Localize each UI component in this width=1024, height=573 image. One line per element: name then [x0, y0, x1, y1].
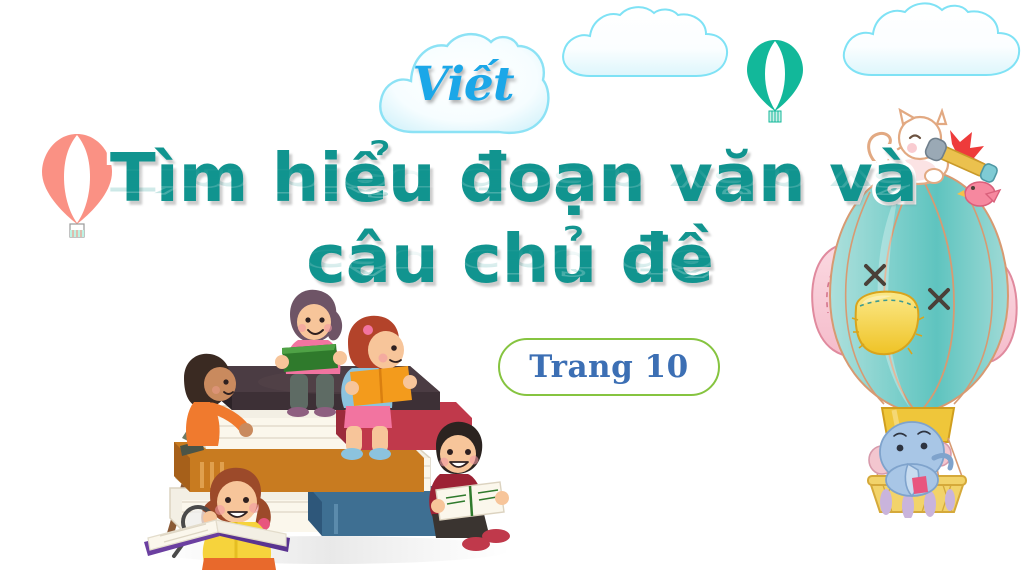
balloon-small-pink-icon [38, 132, 116, 247]
page-number-badge[interactable]: Trang 10 [498, 338, 720, 396]
balloon-small-teal-icon [744, 38, 806, 131]
title-line-1-text: Tìm hiểu đoạn văn và [110, 136, 918, 220]
title-line-1: Tìm hiểu đoạn văn và Tìm hiểu đoạn văn v… [110, 136, 910, 221]
cloud-top-right-icon [836, 2, 1022, 82]
title-line-2: câu chủ đề câu chủ đề [110, 217, 910, 302]
viet-badge: Viết [371, 28, 551, 140]
page-title: Tìm hiểu đoạn văn và Tìm hiểu đoạn văn v… [110, 136, 910, 302]
slide-canvas: Viết Tìm hiểu đoạn văn và Tìm hiểu đoạn … [0, 0, 1024, 573]
cloud-top-center-icon [556, 6, 734, 82]
title-line-2-text: câu chủ đề [306, 217, 714, 301]
viet-label: Viết [371, 28, 551, 140]
page-number-label: Trang 10 [529, 349, 688, 385]
